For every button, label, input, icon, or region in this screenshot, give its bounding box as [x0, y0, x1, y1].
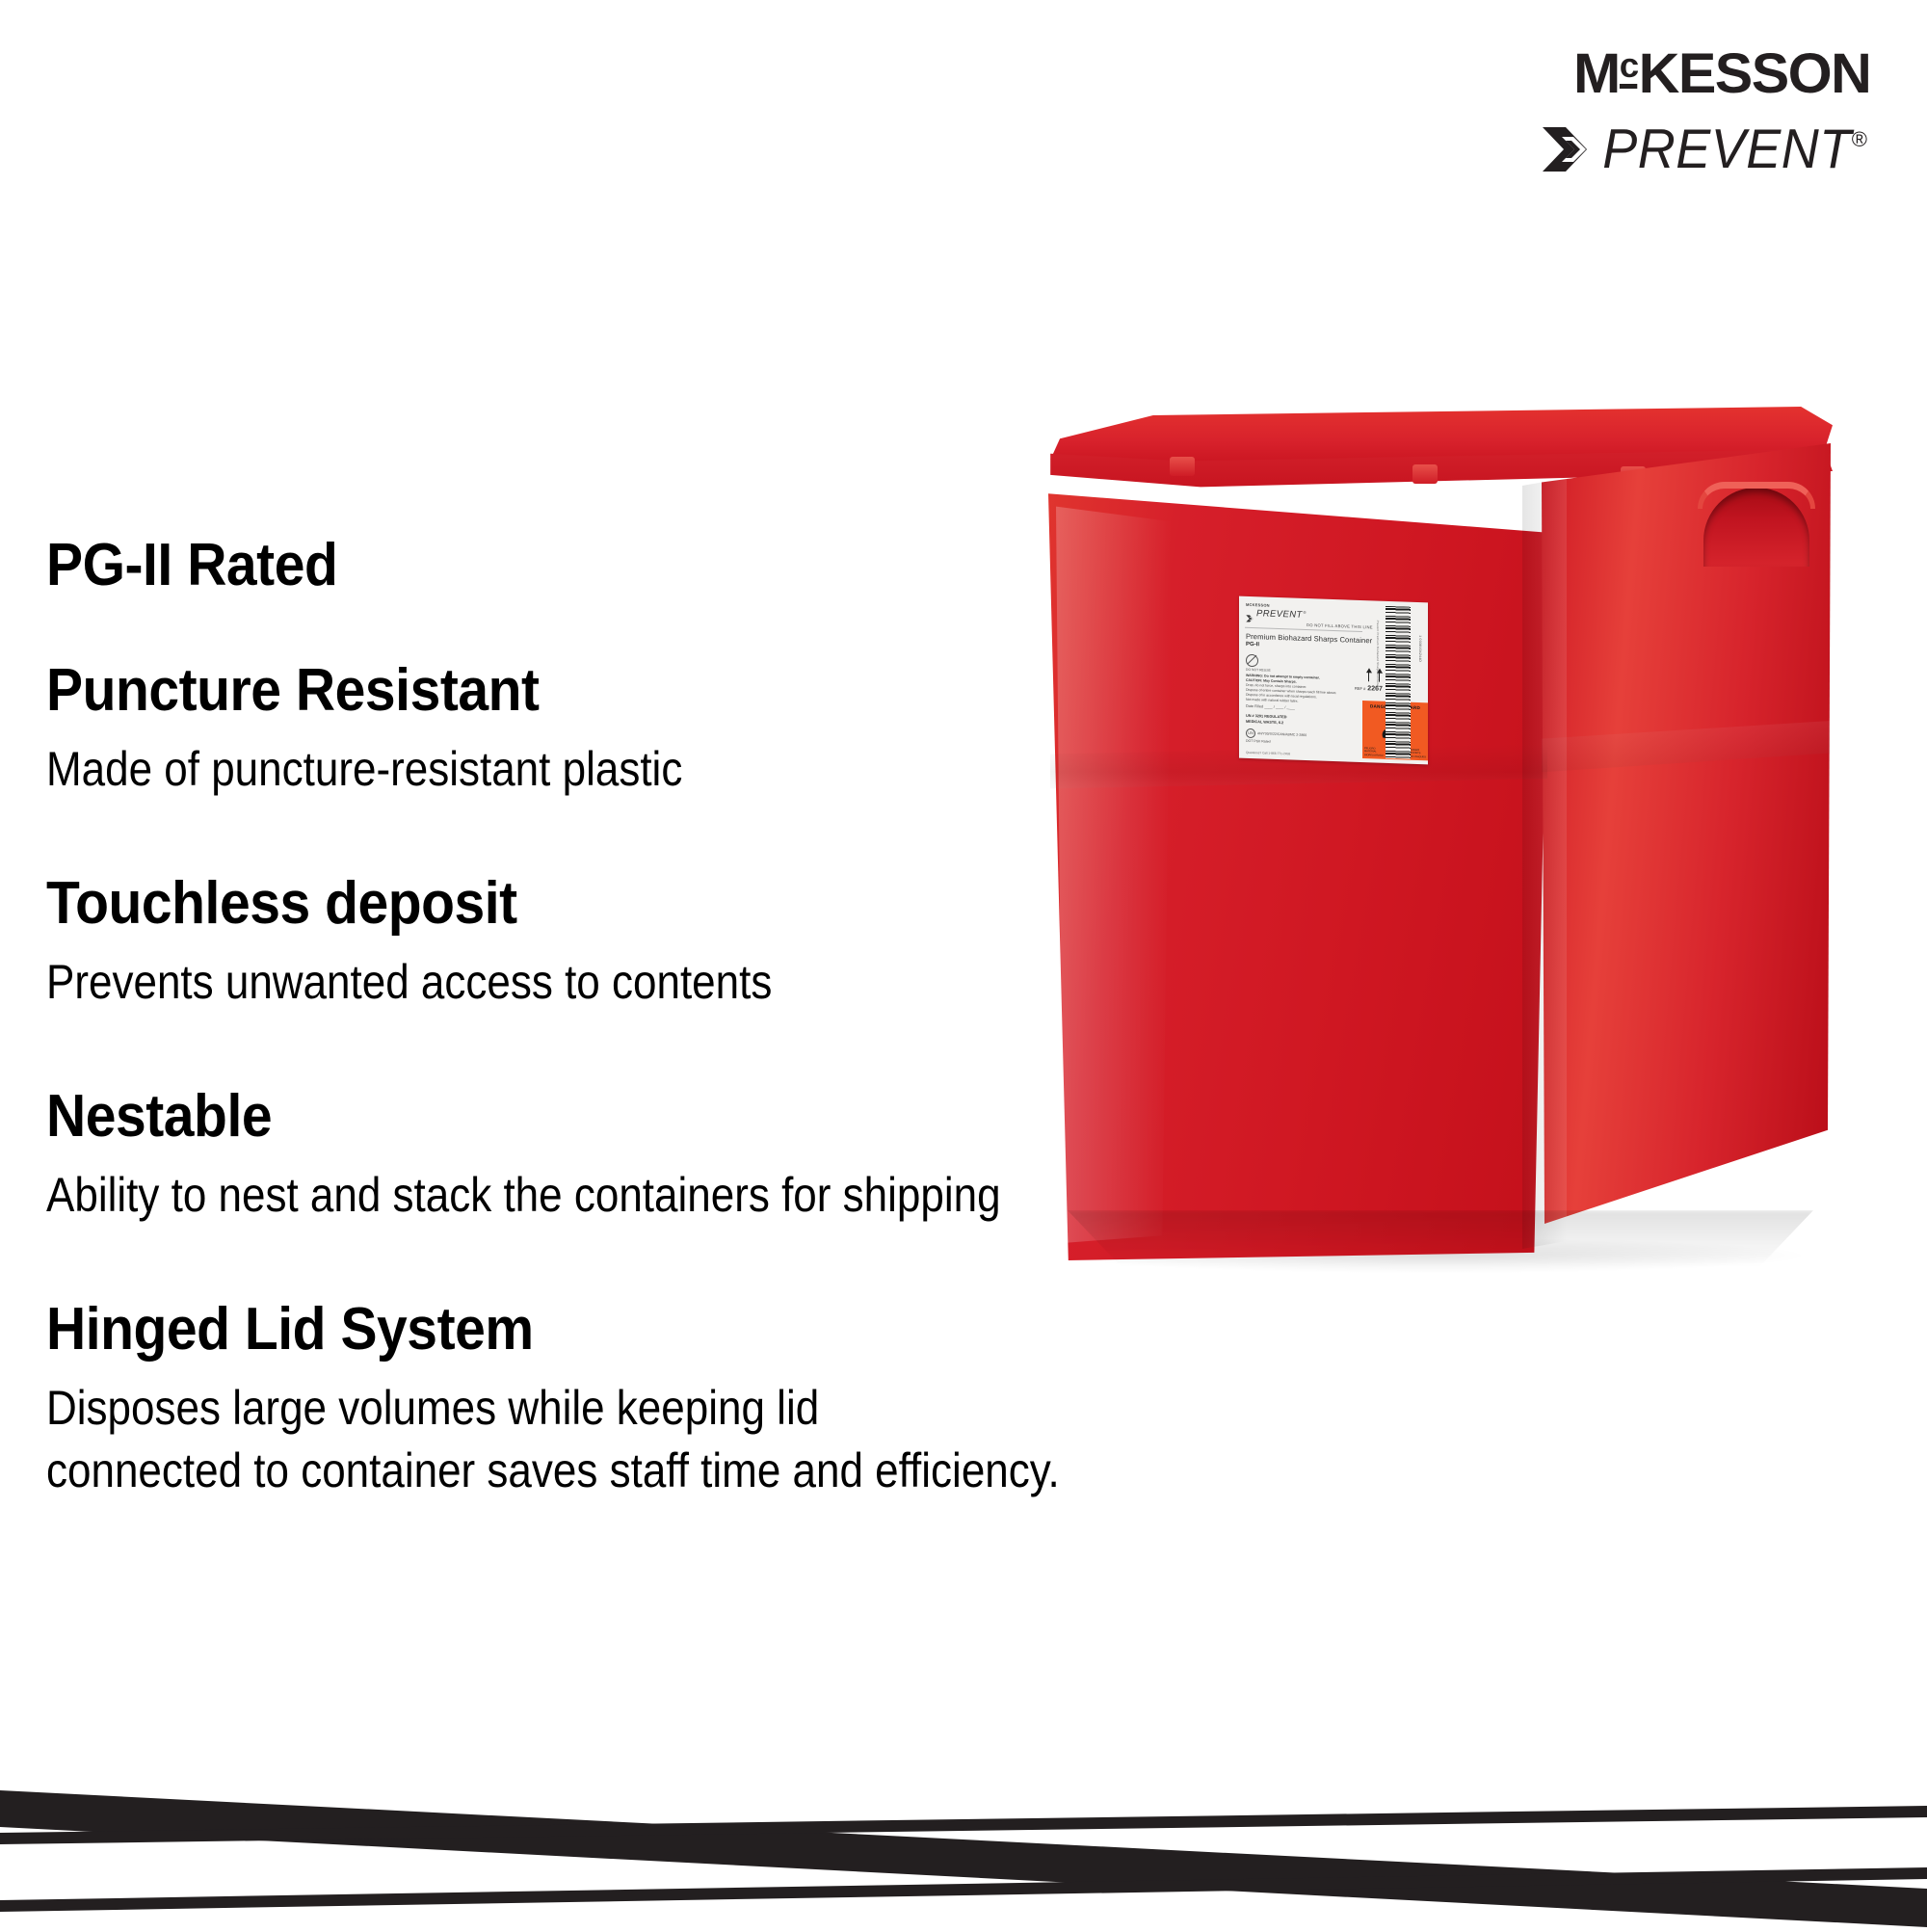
mckesson-prefix: M [1573, 46, 1620, 102]
feature-list: PG-II Rated Puncture Resistant Made of p… [46, 536, 1183, 1502]
label-cert-text: 4H/Y30/S/22/CAN/ABMC 2-2860 [1257, 731, 1307, 737]
lid-hinge-tab [1170, 457, 1195, 476]
feature-body-line-2: connected to container saves staff time … [46, 1440, 1046, 1502]
feature-puncture-resistant: Puncture Resistant Made of puncture-resi… [46, 661, 1183, 801]
side-handle-recess [1696, 474, 1819, 567]
label-prevent-word: PREVENT [1256, 608, 1303, 621]
mckesson-logo: McKESSON [1573, 46, 1870, 102]
biohazard-right-lines: DANGER DECHETS BIOLOGIQUES [1409, 749, 1426, 759]
container-base-shading [1060, 1210, 1821, 1266]
label-product-title: Premium Biohazard Sharps Container [1246, 632, 1372, 646]
lid-hinge-tab [1412, 464, 1438, 484]
product-label: MCKESSON PREVENT ® DO NOT FILL ABOVE THI… [1239, 596, 1428, 765]
feature-heading: Hinged Lid System [46, 1300, 1093, 1360]
feature-heading: PG-II Rated [46, 536, 1093, 595]
label-rating: PG-II [1246, 642, 1259, 648]
label-ref-prefix: REF # [1355, 686, 1365, 691]
un-certification-icon: UN [1246, 728, 1255, 738]
feature-heading: Nestable [46, 1087, 1093, 1147]
feature-body: Made of puncture-resistant plastic [46, 738, 1046, 801]
container-corner-edge [1522, 478, 1567, 1249]
prevent-wordmark: PREVENT [1602, 121, 1852, 176]
crossing-diagonal-lines [0, 1744, 1927, 1927]
sharps-container-image: MCKESSON PREVENT ® DO NOT FILL ABOVE THI… [1021, 385, 1869, 1291]
feature-pg-ii-rated: PG-II Rated [46, 536, 1183, 595]
feature-nestable: Nestable Ability to nest and stack the c… [46, 1087, 1183, 1227]
feature-touchless-deposit: Touchless deposit Prevents unwanted acce… [46, 874, 1183, 1014]
label-no-reuse-block: DO NOT REUSE [1246, 654, 1271, 673]
brand-logos: McKESSON PREVENT ® [1541, 46, 1867, 175]
label-date-filled: Date Filled ____ / ____ / ____ [1246, 704, 1295, 710]
this-way-up-arrows-icon [1366, 664, 1384, 682]
handle-rim [1698, 482, 1815, 509]
feature-body: Ability to nest and stack the containers… [46, 1164, 1046, 1227]
mckesson-superscript-c: c [1619, 48, 1637, 89]
label-phone: Questions? Call 1-866-771-2458 [1246, 751, 1290, 756]
label-side-text: Prevent Premium Biohazard Sharps Contain… [1376, 621, 1380, 688]
label-no-reuse-caption: DO NOT REUSE [1246, 668, 1271, 673]
barcode-number: 1 0338194244D [1418, 635, 1422, 662]
barcode-icon [1386, 606, 1411, 759]
chevron-double-right-icon [1246, 609, 1254, 617]
chevron-double-right-icon [1541, 125, 1597, 173]
biohazard-left-lines: PELIGRO MATERIAL BIOPELIGROSO [1364, 747, 1384, 757]
feature-heading: Touchless deposit [46, 874, 1093, 934]
label-un-line-2: MEDICAL WASTE, 6.2 [1246, 720, 1287, 727]
label-dot-rating: DOT PGII Rated [1246, 739, 1271, 744]
mckesson-rest: KESSON [1638, 46, 1870, 102]
feature-heading: Puncture Resistant [46, 661, 1093, 721]
label-warning-block: WARNING: Do not attempt to empty contain… [1246, 674, 1359, 706]
registered-trademark-icon: ® [1852, 129, 1867, 150]
container-highlight [1056, 491, 1172, 1243]
feature-body: Prevents unwanted access to contents [46, 951, 1046, 1014]
label-un-block: UN # 3291 REGULATED MEDICAL WASTE, 6.2 [1246, 714, 1287, 727]
prevent-logo: PREVENT ® [1541, 123, 1867, 175]
feature-hinged-lid-system: Hinged Lid System Disposes large volumes… [46, 1300, 1183, 1502]
registered-trademark-icon: ® [1304, 610, 1307, 615]
feature-body-line-1: Disposes large volumes while keeping lid [46, 1377, 1046, 1440]
do-not-reuse-icon [1246, 654, 1258, 667]
